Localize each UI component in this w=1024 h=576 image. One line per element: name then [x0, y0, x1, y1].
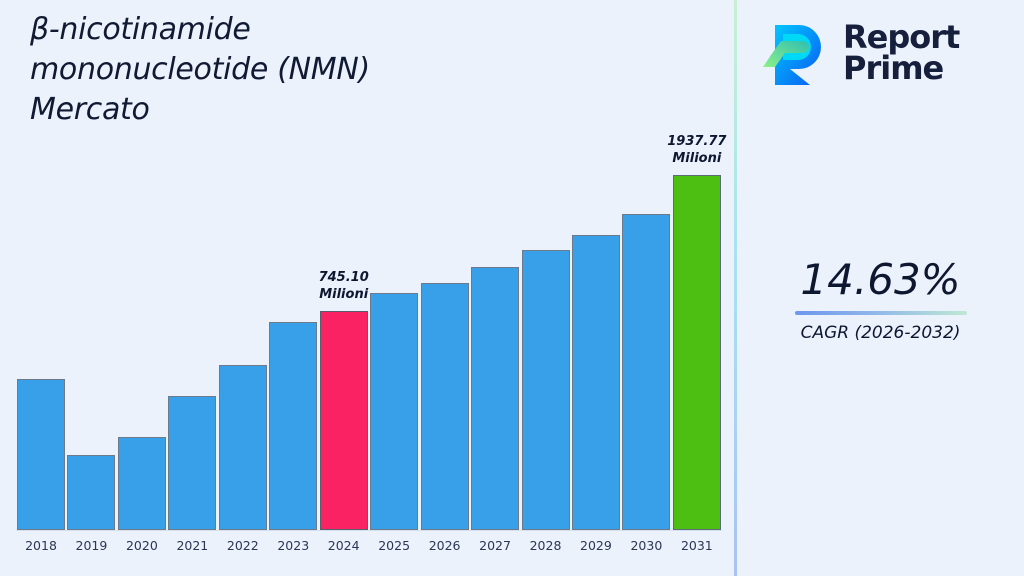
bar-2019 — [67, 455, 115, 530]
bar-2031 — [673, 175, 721, 530]
cagr-caption: CAGR (2026-2032) — [737, 322, 1024, 344]
cagr-divider-rule — [795, 311, 967, 315]
cagr-block: 14.63% CAGR (2026-2032) — [737, 255, 1024, 344]
bar-2025 — [370, 293, 418, 530]
x-axis-tick-2024: 2024 — [320, 538, 368, 553]
bar-2022 — [219, 365, 267, 530]
x-axis-tick-2026: 2026 — [421, 538, 469, 553]
bar-2029 — [572, 235, 620, 530]
brand-name: Report Prime — [843, 22, 959, 84]
bar-2026 — [421, 283, 469, 530]
bar-2028 — [522, 250, 570, 530]
brand-panel: Report Prime 14.63% CAGR (2026-2032) — [737, 0, 1024, 576]
report-prime-logo-icon — [759, 19, 831, 87]
x-axis-tick-2021: 2021 — [168, 538, 216, 553]
x-axis-tick-2027: 2027 — [471, 538, 519, 553]
bar-value-label-2024: 745.10 Milioni — [289, 269, 399, 303]
x-axis-tick-2023: 2023 — [269, 538, 317, 553]
bar-2020 — [118, 437, 166, 530]
brand-logo: Report Prime — [759, 14, 1009, 92]
bar-2021 — [168, 396, 216, 530]
x-axis-tick-2031: 2031 — [673, 538, 721, 553]
bar-2030 — [622, 214, 670, 530]
x-axis-tick-2029: 2029 — [572, 538, 620, 553]
bar-2024 — [320, 311, 368, 530]
chart-panel: β-nicotinamide mononucleotide (NMN) Merc… — [0, 0, 735, 576]
x-axis-tick-2019: 2019 — [67, 538, 115, 553]
x-axis-tick-2028: 2028 — [522, 538, 570, 553]
brand-name-line2: Prime — [843, 49, 943, 87]
bar-2023 — [269, 322, 317, 530]
x-axis-tick-2018: 2018 — [17, 538, 65, 553]
x-axis-tick-2025: 2025 — [370, 538, 418, 553]
x-axis-baseline — [16, 530, 722, 531]
x-axis-tick-2030: 2030 — [622, 538, 670, 553]
x-axis-tick-2022: 2022 — [219, 538, 267, 553]
x-axis-tick-2020: 2020 — [118, 538, 166, 553]
bar-chart-plot-area: 2018201920202021202220232024202520262027… — [0, 0, 735, 576]
cagr-value: 14.63% — [737, 255, 1024, 305]
bar-2027 — [471, 267, 519, 530]
bar-2018 — [17, 379, 65, 530]
